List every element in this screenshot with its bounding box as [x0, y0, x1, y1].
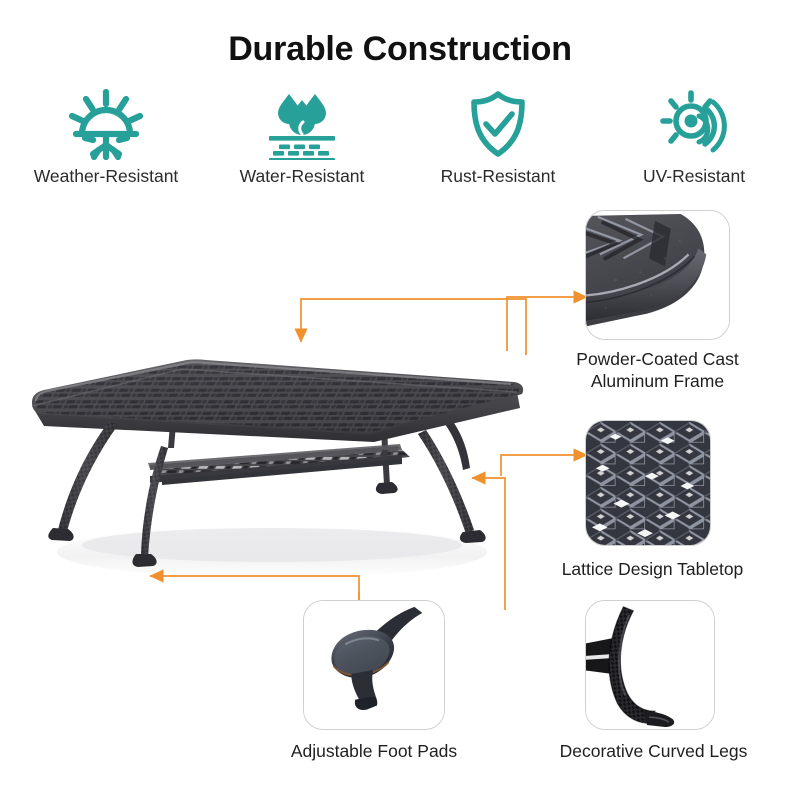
infographic-canvas: Durable Construction: [0, 0, 800, 800]
caption-decorative-curved-legs: Decorative Curved Legs: [512, 740, 795, 762]
caption-line: Powder-Coated Cast: [520, 348, 795, 370]
foot-pad-detail-photo: [303, 600, 445, 730]
caption-line: Aluminum Frame: [520, 370, 795, 392]
caption-line: Lattice Design Tabletop: [510, 558, 795, 580]
frame-corner-detail-photo: [585, 210, 730, 340]
caption-line: Decorative Curved Legs: [512, 740, 795, 762]
caption-lattice-tabletop: Lattice Design Tabletop: [510, 558, 795, 580]
caption-adjustable-foot-pads: Adjustable Foot Pads: [245, 740, 503, 762]
caption-powder-coated-frame: Powder-Coated Cast Aluminum Frame: [520, 348, 795, 393]
caption-line: Adjustable Foot Pads: [245, 740, 503, 762]
lattice-pattern-detail-photo: [585, 420, 711, 546]
curved-leg-detail-photo: [585, 600, 715, 730]
